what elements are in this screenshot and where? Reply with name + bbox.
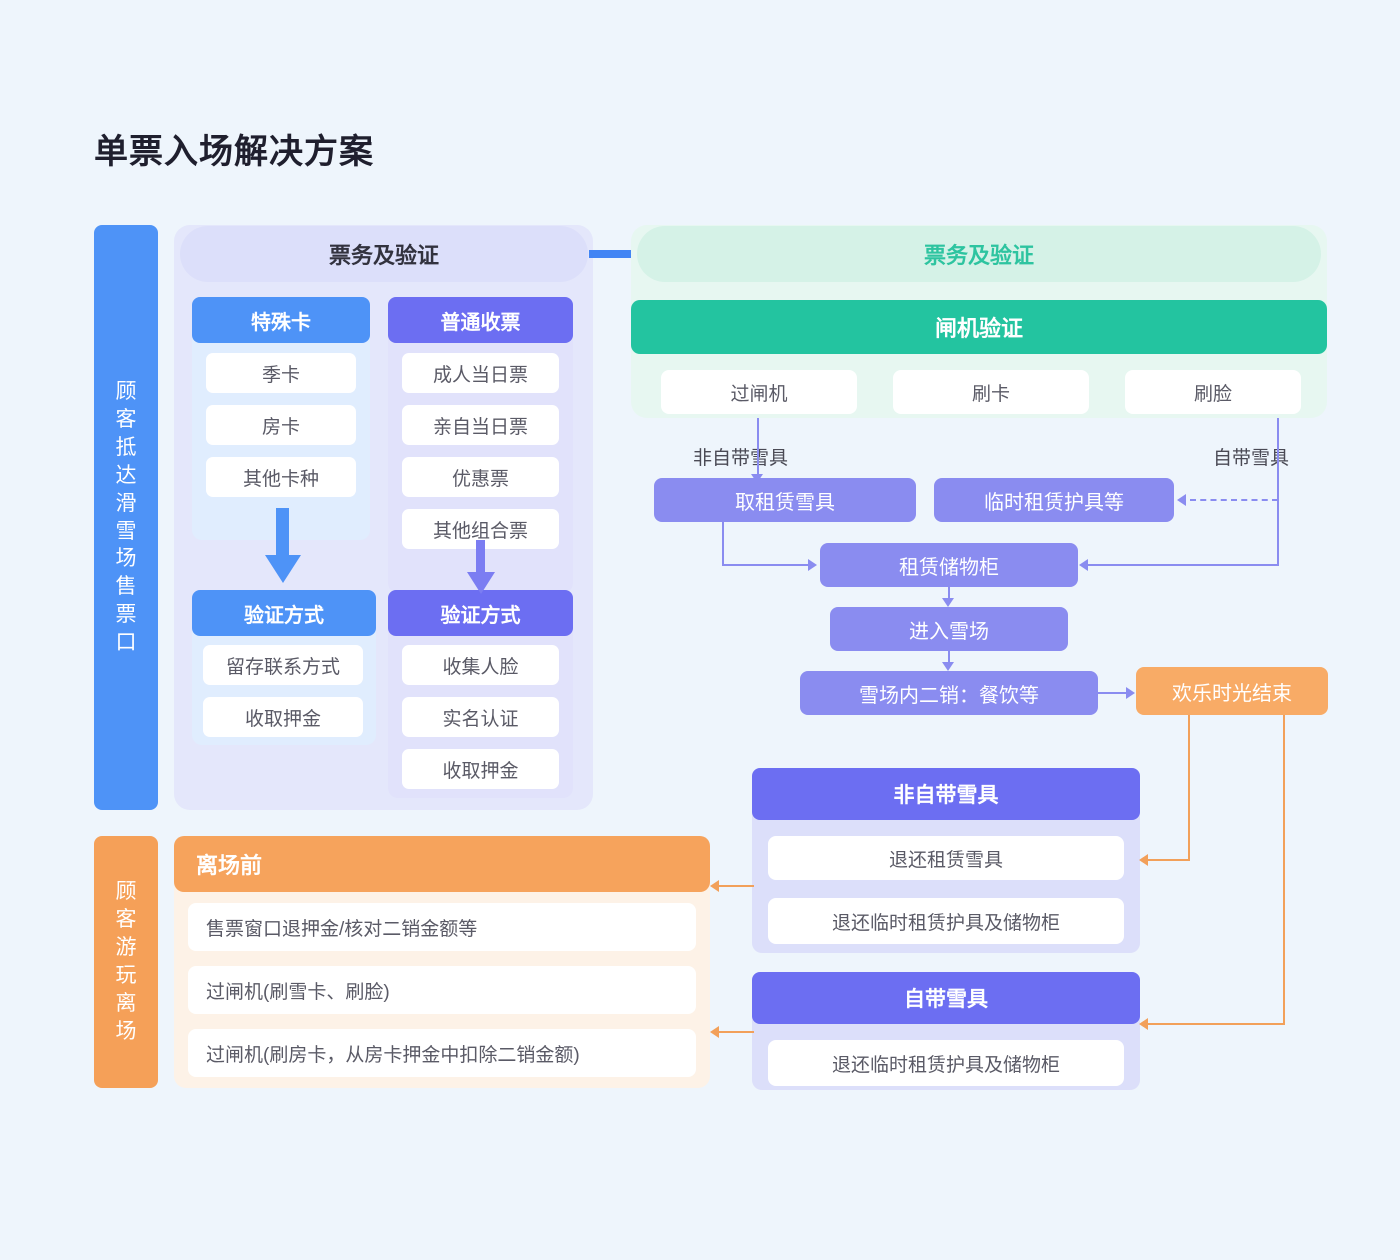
list-item[interactable]: 房卡 xyxy=(206,405,356,445)
phase-rail-arrive-label: 顾客抵达滑雪场售票口 xyxy=(114,378,138,657)
verify-left-caption: 验证方式 xyxy=(192,590,376,636)
list-item[interactable]: 过闸机(刷房卡，从房卡押金中扣除二销金额) xyxy=(188,1029,696,1077)
list-item[interactable]: 其他卡种 xyxy=(206,457,356,497)
phase-rail-leave-label: 顾客游玩离场 xyxy=(114,878,138,1046)
flow-rent-locker[interactable]: 租赁储物柜 xyxy=(820,543,1078,587)
verify-right-caption: 验证方式 xyxy=(388,590,573,636)
flow-happy-time-end[interactable]: 欢乐时光结束 xyxy=(1136,667,1328,715)
gate-item-card[interactable]: 刷卡 xyxy=(893,370,1089,414)
list-item[interactable]: 收取押金 xyxy=(402,749,559,789)
arrow-down-ticket-to-verify-head xyxy=(467,572,495,594)
list-item[interactable]: 季卡 xyxy=(206,353,356,393)
ticketing-panel-header: 票务及验证 xyxy=(180,226,588,282)
gate-panel-header: 票务及验证 xyxy=(637,226,1321,282)
special-card-caption: 特殊卡 xyxy=(192,297,370,343)
list-item[interactable]: 退还临时租赁护具及储物柜 xyxy=(768,898,1124,944)
before-leaving-caption: 离场前 xyxy=(174,836,710,892)
return-group-own-caption: 自带雪具 xyxy=(752,972,1140,1024)
phase-rail-leave: 顾客游玩离场 xyxy=(94,836,158,1088)
list-item[interactable]: 亲自当日票 xyxy=(402,405,559,445)
list-item[interactable]: 过闸机(刷雪卡、刷脸) xyxy=(188,966,696,1014)
list-item[interactable]: 退还租赁雪具 xyxy=(768,836,1124,880)
list-item[interactable]: 收取押金 xyxy=(203,697,363,737)
gate-validation-caption: 闸机验证 xyxy=(631,300,1327,354)
list-item[interactable]: 收集人脸 xyxy=(402,645,559,685)
gate-item-turnstile[interactable]: 过闸机 xyxy=(661,370,857,414)
list-item[interactable]: 成人当日票 xyxy=(402,353,559,393)
list-item[interactable]: 退还临时租赁护具及储物柜 xyxy=(768,1040,1124,1086)
list-item[interactable]: 留存联系方式 xyxy=(203,645,363,685)
list-item[interactable]: 优惠票 xyxy=(402,457,559,497)
list-item[interactable]: 售票窗口退押金/核对二销金额等 xyxy=(188,903,696,951)
arrow-down-special-to-verify-head xyxy=(265,555,301,583)
arrow-down-special-to-verify xyxy=(276,508,289,560)
flow-take-rental-gear[interactable]: 取租赁雪具 xyxy=(654,478,916,522)
flow-secondary-sales[interactable]: 雪场内二销：餐饮等 xyxy=(800,671,1098,715)
diagram-canvas: 单票入场解决方案 顾客抵达滑雪场售票口 顾客游玩离场 票务及验证 特殊卡 普通收… xyxy=(0,0,1400,1260)
gate-item-face[interactable]: 刷脸 xyxy=(1125,370,1301,414)
flow-enter-snowfield[interactable]: 进入雪场 xyxy=(830,607,1068,651)
flow-temp-rental-gear[interactable]: 临时租赁护具等 xyxy=(934,478,1174,522)
normal-ticket-caption: 普通收票 xyxy=(388,297,573,343)
phase-rail-arrive: 顾客抵达滑雪场售票口 xyxy=(94,225,158,810)
page-title: 单票入场解决方案 xyxy=(94,124,374,173)
connector-ticketing-to-gate xyxy=(589,250,635,258)
return-group-non-own-caption: 非自带雪具 xyxy=(752,768,1140,820)
flow-label-non-own-gear: 非自带雪具 xyxy=(693,443,788,470)
list-item[interactable]: 实名认证 xyxy=(402,697,559,737)
